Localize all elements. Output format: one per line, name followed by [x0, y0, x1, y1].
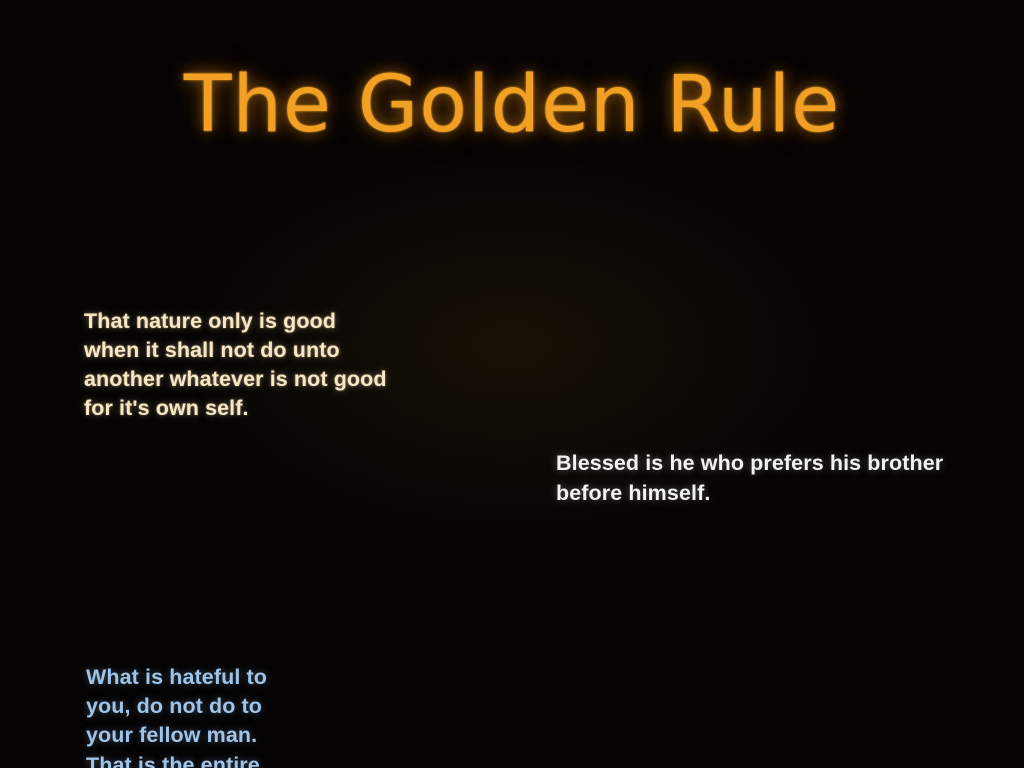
quote-line: before himself.: [556, 479, 956, 508]
quote-line: for it's own self.: [84, 394, 414, 423]
page-title: The Golden Rule: [0, 66, 1024, 144]
quote-line: your fellow man.: [86, 721, 306, 750]
quote-judaism: What is hateful to you, do not do to you…: [86, 663, 306, 768]
quote-line: when it shall not do unto: [84, 336, 414, 365]
golden-rule-poster: The Golden Rule That nature only is good…: [0, 0, 1024, 768]
quote-line: Blessed is he who prefers his brother: [556, 449, 956, 478]
quote-bahai: Blessed is he who prefers his brother be…: [556, 449, 956, 507]
quote-zoroastrianism: That nature only is good when it shall n…: [84, 307, 414, 424]
quote-line: What is hateful to: [86, 663, 306, 692]
quote-line: That nature only is good: [84, 307, 414, 336]
quote-line: That is the entire: [86, 751, 306, 768]
quote-line: another whatever is not good: [84, 365, 414, 394]
quote-line: you, do not do to: [86, 692, 306, 721]
